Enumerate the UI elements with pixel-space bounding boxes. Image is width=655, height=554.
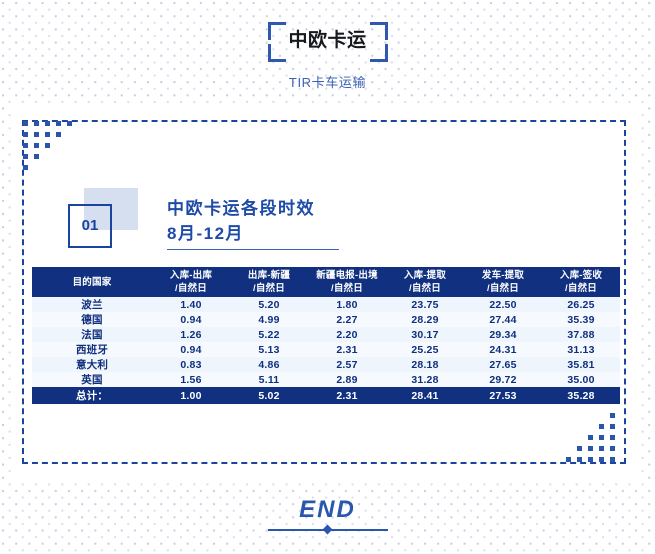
cell-country: 西班牙	[32, 342, 152, 357]
cell-value: 4.99	[230, 312, 308, 327]
cell-value: 1.80	[308, 297, 386, 312]
cell-value: 26.25	[542, 297, 620, 312]
cell-value: 29.72	[464, 372, 542, 387]
cell-total-value: 1.00	[152, 387, 230, 404]
cell-value: 37.88	[542, 327, 620, 342]
section-badge-number: 01	[68, 204, 112, 248]
cell-value: 29.34	[464, 327, 542, 342]
cell-country: 德国	[32, 312, 152, 327]
cell-value: 5.22	[230, 327, 308, 342]
column-header-line2: /自然日	[386, 282, 464, 295]
cell-value: 5.20	[230, 297, 308, 312]
cell-value: 2.20	[308, 327, 386, 342]
cell-value: 35.39	[542, 312, 620, 327]
cell-value: 2.57	[308, 357, 386, 372]
column-header-line2: /自然日	[464, 282, 542, 295]
table-total-row: 总计：1.005.022.3128.4127.5335.28	[32, 387, 620, 404]
cell-value: 1.56	[152, 372, 230, 387]
cell-value: 27.44	[464, 312, 542, 327]
cell-value: 28.29	[386, 312, 464, 327]
section-heading: 中欧卡运各段时效 8月-12月	[167, 196, 347, 246]
cell-value: 5.13	[230, 342, 308, 357]
cell-value: 2.89	[308, 372, 386, 387]
end-rule-wrap	[268, 526, 388, 534]
cell-value: 22.50	[464, 297, 542, 312]
cell-value: 35.00	[542, 372, 620, 387]
cell-value: 2.31	[308, 342, 386, 357]
table-header-row: 目的国家入库-出库/自然日出库-新疆/自然日新疆电报-出境/自然日入库-提取/自…	[32, 267, 620, 297]
cell-value: 4.86	[230, 357, 308, 372]
table-column-header-6: 入库-签收/自然日	[542, 267, 620, 297]
cell-total-value: 35.28	[542, 387, 620, 404]
cell-country: 波兰	[32, 297, 152, 312]
cell-value: 31.28	[386, 372, 464, 387]
table-column-header-0: 目的国家	[32, 267, 152, 297]
cell-value: 30.17	[386, 327, 464, 342]
table-header: 目的国家入库-出库/自然日出库-新疆/自然日新疆电报-出境/自然日入库-提取/自…	[32, 267, 620, 297]
table-row: 波兰1.405.201.8023.7522.5026.25	[32, 297, 620, 312]
cell-value: 27.65	[464, 357, 542, 372]
cell-total-value: 28.41	[386, 387, 464, 404]
cell-country: 法国	[32, 327, 152, 342]
cell-country: 英国	[32, 372, 152, 387]
table-row: 英国1.565.112.8931.2829.7235.00	[32, 372, 620, 387]
cell-value: 1.26	[152, 327, 230, 342]
cell-value: 23.75	[386, 297, 464, 312]
cell-value: 0.83	[152, 357, 230, 372]
table-column-header-2: 出库-新疆/自然日	[230, 267, 308, 297]
table-row: 西班牙0.945.132.3125.2524.3131.13	[32, 342, 620, 357]
column-header-line2: /自然日	[542, 282, 620, 295]
end-label: END	[0, 496, 655, 524]
cell-value: 2.27	[308, 312, 386, 327]
cell-value: 1.40	[152, 297, 230, 312]
cell-total-label: 总计：	[32, 387, 152, 404]
column-header-line1: 新疆电报-出境	[316, 270, 378, 281]
cell-value: 28.18	[386, 357, 464, 372]
cell-country: 意大利	[32, 357, 152, 372]
cell-value: 35.81	[542, 357, 620, 372]
timeliness-table: 目的国家入库-出库/自然日出库-新疆/自然日新疆电报-出境/自然日入库-提取/自…	[32, 267, 620, 404]
table-body: 波兰1.405.201.8023.7522.5026.25德国0.944.992…	[32, 297, 620, 404]
cell-total-value: 27.53	[464, 387, 542, 404]
section-title: 中欧卡运各段时效	[167, 196, 347, 221]
table-row: 法国1.265.222.2030.1729.3437.88	[32, 327, 620, 342]
section-period: 8月-12月	[167, 221, 347, 246]
cell-value: 0.94	[152, 312, 230, 327]
column-header-line1: 入库-提取	[404, 270, 446, 281]
cell-value: 25.25	[386, 342, 464, 357]
table-row: 德国0.944.992.2728.2927.4435.39	[32, 312, 620, 327]
table-column-header-1: 入库-出库/自然日	[152, 267, 230, 297]
end-mark: END	[0, 496, 655, 534]
column-header-line1: 目的国家	[73, 277, 112, 288]
column-header-line1: 出库-新疆	[248, 270, 290, 281]
table-column-header-5: 发车-提取/自然日	[464, 267, 542, 297]
cell-value: 31.13	[542, 342, 620, 357]
cell-value: 5.11	[230, 372, 308, 387]
table-column-header-4: 入库-提取/自然日	[386, 267, 464, 297]
table-row: 意大利0.834.862.5728.1827.6535.81	[32, 357, 620, 372]
column-header-line2: /自然日	[230, 282, 308, 295]
table-column-header-3: 新疆电报-出境/自然日	[308, 267, 386, 297]
cell-value: 24.31	[464, 342, 542, 357]
column-header-line2: /自然日	[152, 282, 230, 295]
column-header-line1: 入库-签收	[560, 270, 602, 281]
column-header-line1: 入库-出库	[170, 270, 212, 281]
section-underline	[167, 249, 339, 250]
column-header-line2: /自然日	[308, 282, 386, 295]
cell-value: 0.94	[152, 342, 230, 357]
column-header-line1: 发车-提取	[482, 270, 524, 281]
decor-dots-bottom-right	[566, 413, 628, 467]
cell-total-value: 2.31	[308, 387, 386, 404]
cell-total-value: 5.02	[230, 387, 308, 404]
end-diamond-icon	[322, 525, 332, 535]
